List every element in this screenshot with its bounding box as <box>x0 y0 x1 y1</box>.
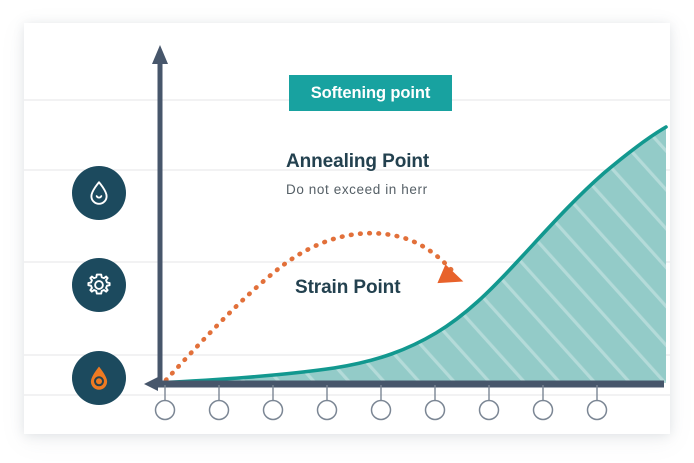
x-axis-ticks <box>156 385 607 420</box>
annealing-point-block: Annealing Point Do not exceed in herr <box>286 151 429 197</box>
x-tick <box>264 385 283 420</box>
annealing-point-title: Annealing Point <box>286 151 429 173</box>
x-tick <box>318 385 337 420</box>
strain-point-label: Strain Point <box>295 277 400 299</box>
x-tick <box>426 385 445 420</box>
gear-icon-button[interactable] <box>72 258 126 312</box>
softening-point-badge[interactable]: Softening point <box>289 75 452 111</box>
x-tick <box>588 385 607 420</box>
gear-icon <box>84 270 114 300</box>
y-axis <box>152 45 168 386</box>
x-tick <box>210 385 229 420</box>
flame-droplet-icon-button[interactable] <box>72 351 126 405</box>
annealing-point-subtitle: Do not exceed in herr <box>286 182 429 197</box>
flame-droplet-icon <box>84 363 114 393</box>
softening-point-label: Softening point <box>311 84 430 103</box>
droplet-icon <box>84 178 114 208</box>
x-tick <box>372 385 391 420</box>
x-tick <box>156 385 175 420</box>
screenshot-canvas: Softening point Annealing Point Do not e… <box>0 0 694 463</box>
x-tick <box>534 385 553 420</box>
x-tick <box>480 385 499 420</box>
droplet-icon-button[interactable] <box>72 166 126 220</box>
chart-card: Softening point Annealing Point Do not e… <box>24 23 670 434</box>
